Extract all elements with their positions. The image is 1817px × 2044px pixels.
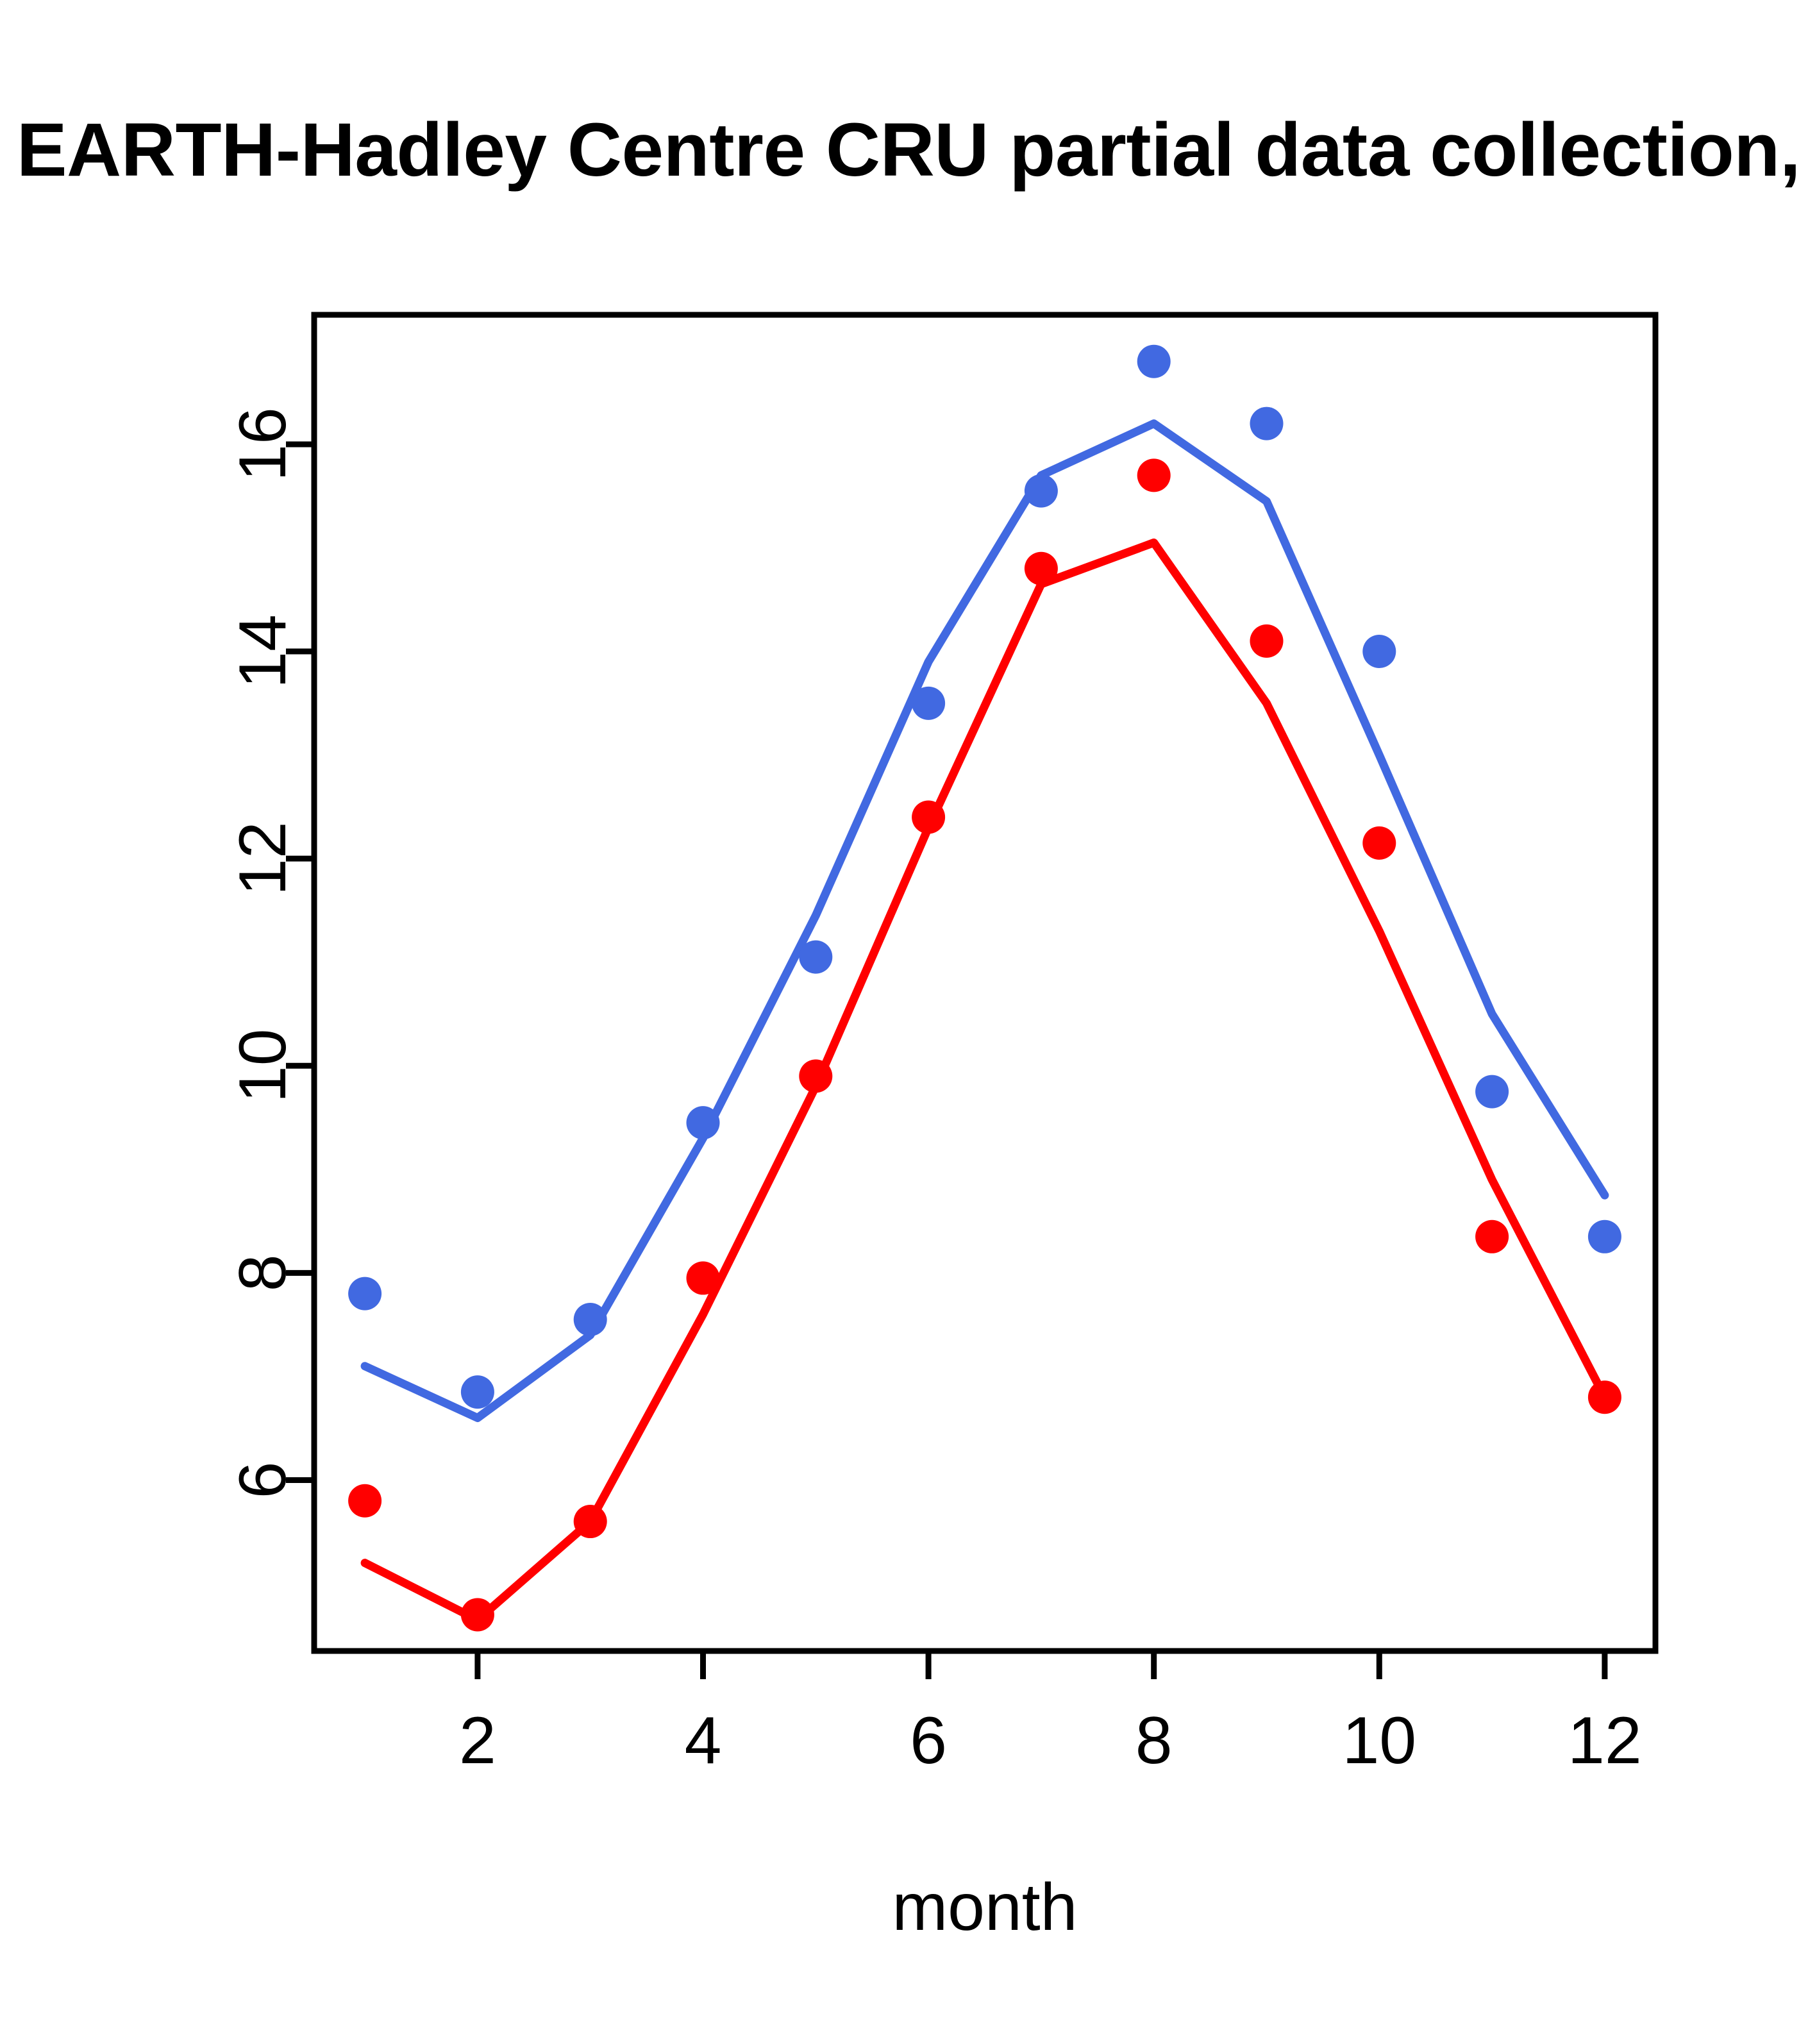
data-point-red-points xyxy=(1588,1380,1621,1414)
plot-frame xyxy=(314,315,1655,1651)
x-axis-ticks xyxy=(478,1651,1605,1679)
data-point-red-points xyxy=(574,1505,607,1538)
data-point-blue-points xyxy=(348,1277,381,1311)
y-tick-label: 10 xyxy=(226,1028,300,1103)
plot-border xyxy=(314,315,1655,1651)
data-point-red-points xyxy=(348,1484,381,1518)
y-axis-tick-labels: 6810121416 xyxy=(226,407,300,1498)
data-point-blue-points xyxy=(1588,1220,1621,1253)
data-point-blue-points xyxy=(1025,474,1058,508)
data-point-blue-points xyxy=(687,1106,720,1139)
data-point-red-points xyxy=(912,801,945,834)
data-point-blue-points xyxy=(799,941,832,974)
data-point-red-points xyxy=(1475,1220,1509,1253)
series-line-blue-line xyxy=(365,424,1605,1418)
data-point-blue-points xyxy=(912,687,945,720)
x-tick-label: 8 xyxy=(1135,1704,1173,1778)
y-axis-ticks xyxy=(286,444,314,1480)
y-tick-label: 6 xyxy=(226,1462,300,1499)
data-point-blue-points xyxy=(1250,407,1283,440)
data-point-blue-points xyxy=(1137,345,1171,378)
data-point-blue-points xyxy=(1362,635,1396,668)
x-tick-label: 10 xyxy=(1342,1704,1416,1778)
data-point-red-points xyxy=(1250,624,1283,658)
data-point-red-points xyxy=(1137,458,1171,492)
series-lines xyxy=(365,424,1605,1620)
data-point-red-points xyxy=(1362,826,1396,860)
x-tick-label: 6 xyxy=(910,1704,947,1778)
x-tick-label: 12 xyxy=(1568,1704,1642,1778)
data-point-blue-points xyxy=(1475,1075,1509,1109)
series-points xyxy=(348,345,1621,1632)
data-point-red-points xyxy=(1025,552,1058,585)
data-point-red-points xyxy=(799,1059,832,1093)
x-axis-title: month xyxy=(892,1870,1077,1945)
y-tick-label: 12 xyxy=(226,821,300,896)
y-tick-label: 8 xyxy=(226,1254,300,1291)
x-axis-tick-labels: 24681012 xyxy=(459,1704,1642,1778)
data-point-red-points xyxy=(461,1598,494,1631)
y-tick-label: 16 xyxy=(226,407,300,482)
series-line-red-line xyxy=(365,542,1605,1620)
x-tick-label: 4 xyxy=(685,1704,722,1778)
plot-svg: 6810121416 24681012 month xyxy=(0,0,1817,2044)
x-tick-label: 2 xyxy=(459,1704,496,1778)
data-point-blue-points xyxy=(461,1375,494,1409)
y-tick-label: 14 xyxy=(226,614,300,689)
data-point-blue-points xyxy=(574,1303,607,1336)
data-point-red-points xyxy=(687,1261,720,1294)
chart-canvas: EARTH-Hadley Centre CRU partial data col… xyxy=(0,0,1817,2044)
